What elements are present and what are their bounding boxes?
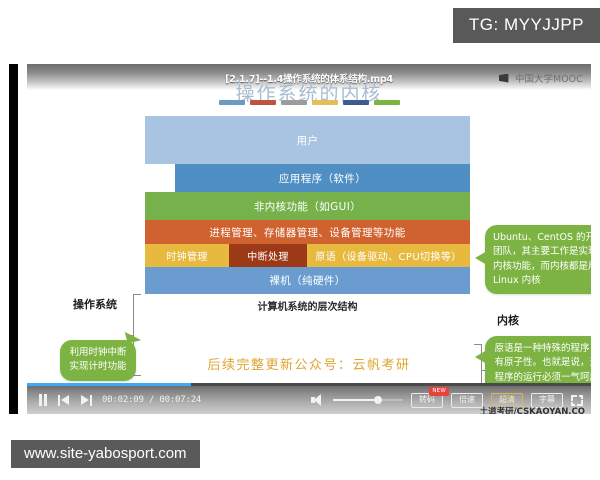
diagram-caption: 计算机系统的层次结构 — [145, 298, 470, 313]
volume-icon[interactable] — [311, 394, 325, 406]
color-bar-5 — [343, 100, 369, 105]
screenshot-root: TG: MYYJJPP [2.1.7]--1.4操作系统的体系结构.mp4 中国… — [0, 0, 600, 480]
transcode-button[interactable]: 转码 NEW — [411, 393, 443, 408]
callout-ubuntu-text: Ubuntu、CentOS 的开发团队，其主要工作是实现非内核功能，而内核都是用… — [493, 232, 591, 286]
kernel-cell-interrupt: 中断处理 — [229, 244, 307, 267]
volume-slider-fill — [333, 399, 374, 401]
callout-ubuntu-note: Ubuntu、CentOS 的开发团队，其主要工作是实现非内核功能，而内核都是用… — [485, 225, 591, 294]
kernel-scope-label: 内核 — [497, 312, 519, 328]
fullscreen-corner-icon — [579, 395, 583, 399]
layer-user: 用户 — [145, 116, 470, 164]
layer-bare-machine: 裸机（纯硬件） — [145, 267, 470, 294]
color-bar-2 — [250, 100, 276, 105]
color-bar-4 — [312, 100, 338, 105]
layer-kernel-row: 时钟管理 中断处理 原语（设备驱动、CPU切换等） — [145, 244, 470, 267]
slide-color-bars — [27, 100, 591, 105]
kernel-cell-primitive: 原语（设备驱动、CPU切换等） — [307, 244, 470, 267]
color-bar-6 — [374, 100, 400, 105]
color-bar-1 — [219, 100, 245, 105]
promo-text: 后续完整更新公众号：云帆考研 — [27, 354, 591, 373]
previous-icon[interactable] — [58, 395, 70, 406]
layer-application: 应用程序（软件） — [175, 164, 470, 192]
volume-slider[interactable] — [333, 395, 403, 405]
os-scope-label: 操作系统 — [73, 296, 117, 312]
player-controls-left: 00:02:09 / 00:07:24 — [27, 394, 201, 406]
layer-management: 进程管理、存储器管理、设备管理等功能 — [145, 220, 470, 244]
player-controls: 00:02:09 / 00:07:24 转码 NEW 倍速 超清 字幕 — [27, 386, 591, 414]
speed-button[interactable]: 倍速 — [451, 393, 483, 408]
tg-badge: TG: MYYJJPP — [453, 8, 600, 43]
pause-icon[interactable] — [38, 394, 48, 406]
slide-canvas: [2.1.7]--1.4操作系统的体系结构.mp4 中国大学MOOC 操作系统的… — [27, 64, 591, 386]
callout-tail-icon — [475, 251, 487, 265]
kernel-cell-clock: 时钟管理 — [145, 244, 229, 267]
new-badge: NEW — [429, 387, 449, 397]
video-player[interactable]: [2.1.7]--1.4操作系统的体系结构.mp4 中国大学MOOC 操作系统的… — [9, 64, 591, 414]
color-bar-3 — [281, 100, 307, 105]
volume-slider-knob[interactable] — [374, 396, 382, 404]
time-display: 00:02:09 / 00:07:24 — [102, 395, 201, 405]
fullscreen-icon[interactable] — [571, 395, 583, 406]
footer-url: www.site-yabosport.com — [11, 440, 200, 468]
player-watermark: 土道考研/CSKAOYAN.CO — [480, 405, 585, 414]
next-icon[interactable] — [80, 395, 92, 406]
layer-non-kernel: 非内核功能（如GUI） — [145, 192, 470, 220]
